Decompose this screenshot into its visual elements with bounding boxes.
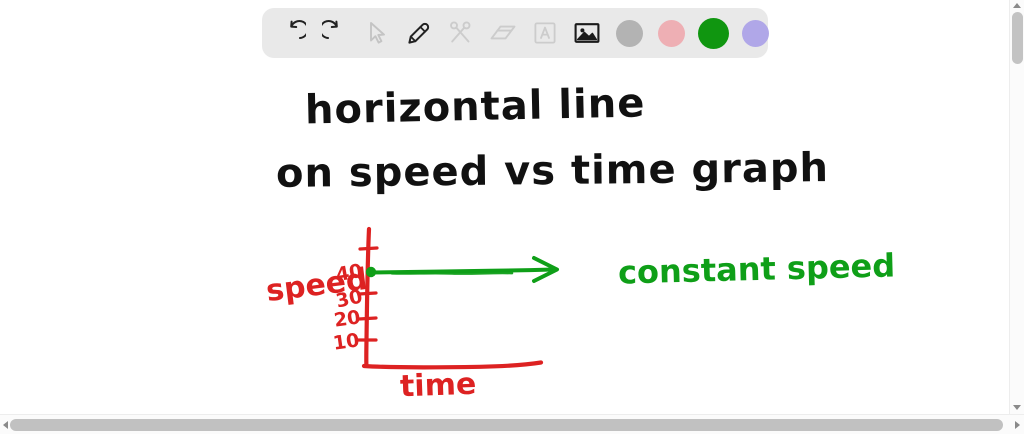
scroll-right-arrow-icon[interactable] [1015, 421, 1020, 429]
eraser-icon[interactable] [482, 12, 524, 54]
line-start-dot [366, 267, 376, 277]
pen-icon[interactable] [398, 12, 440, 54]
color-dot-gray [616, 20, 643, 47]
drawing-toolbar[interactable] [262, 8, 768, 58]
image-icon[interactable] [566, 12, 608, 54]
color-swatch-purple[interactable] [734, 12, 776, 54]
y-tick-mark-30 [359, 293, 376, 294]
color-dot-green [698, 18, 729, 49]
undo-icon[interactable] [272, 12, 314, 54]
color-dot-purple [742, 20, 769, 47]
scroll-left-arrow-icon[interactable] [3, 421, 8, 429]
horizontal-scrollbar[interactable] [0, 414, 1024, 434]
redo-icon[interactable] [314, 12, 356, 54]
x-axis-stroke [364, 363, 541, 368]
color-swatch-green[interactable] [692, 12, 734, 54]
constant-speed-line [370, 270, 553, 273]
color-swatch-pink[interactable] [650, 12, 692, 54]
y-tick-mark-20 [359, 318, 376, 319]
vertical-scrollbar[interactable] [1009, 0, 1024, 414]
scroll-up-arrow-icon[interactable] [1013, 3, 1021, 8]
scroll-down-arrow-icon[interactable] [1013, 405, 1021, 410]
vertical-scrollbar-thumb[interactable] [1012, 12, 1023, 64]
color-swatch-gray[interactable] [608, 12, 650, 54]
freehand-strokes [0, 0, 1009, 414]
text-icon[interactable] [524, 12, 566, 54]
horizontal-scrollbar-thumb[interactable] [10, 419, 1003, 431]
y-tick-mark-top [360, 248, 377, 249]
scissors-icon[interactable] [440, 12, 482, 54]
color-dot-pink [658, 20, 685, 47]
cursor-icon[interactable] [356, 12, 398, 54]
drawing-canvas[interactable]: horizontal line on speed vs time graph s… [0, 0, 1009, 414]
constant-speed-line-texture [392, 273, 512, 274]
